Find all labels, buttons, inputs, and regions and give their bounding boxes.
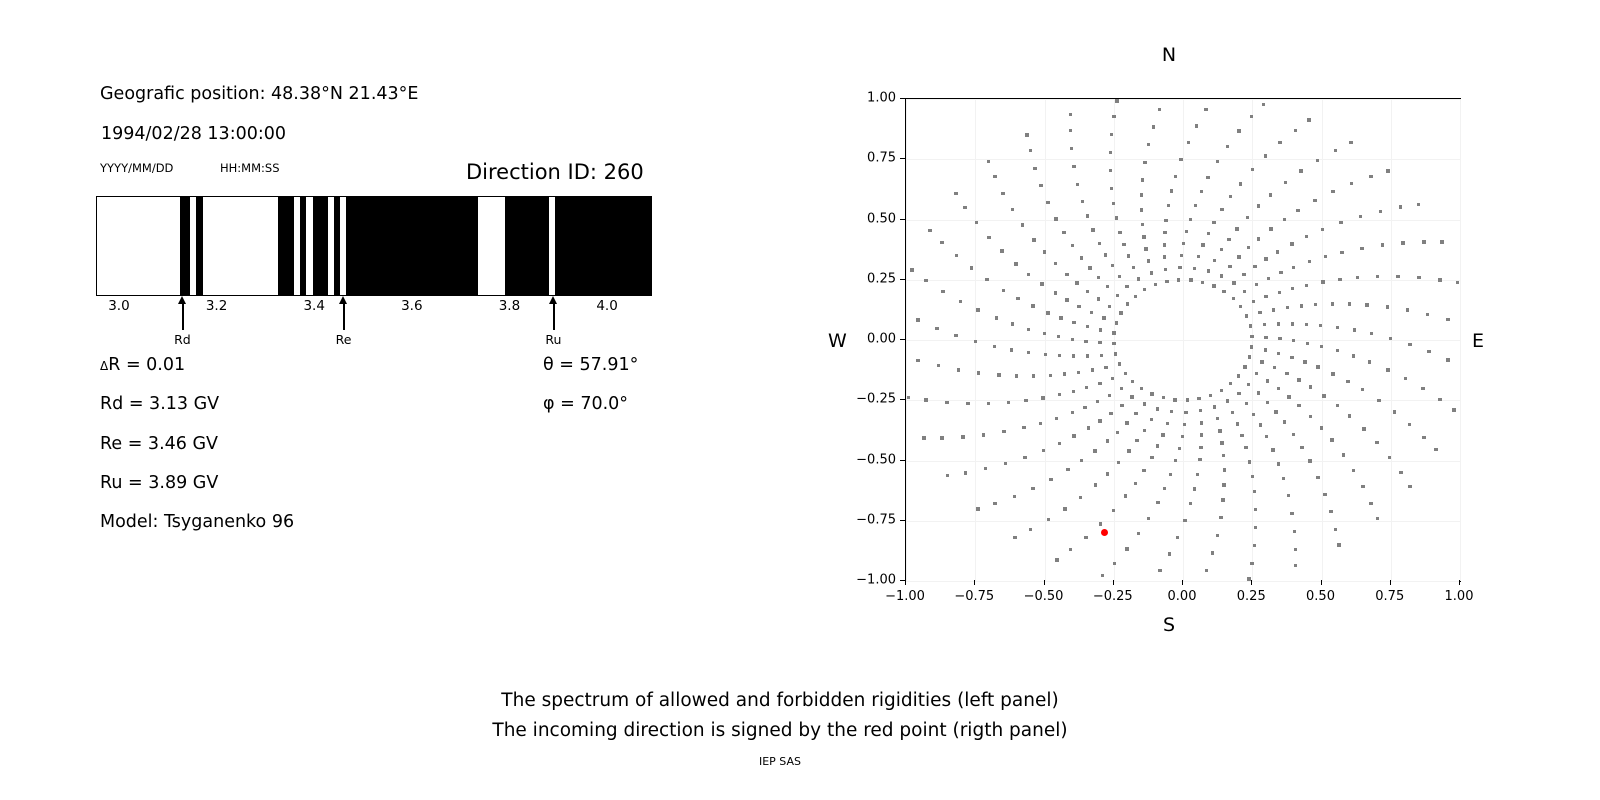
direction-point [1033,167,1036,170]
direction-point [1065,273,1068,276]
direction-point [1072,390,1075,393]
direction-point [1247,577,1250,580]
direction-point [1277,352,1280,355]
x-axis-tick-label: 0.25 [1237,589,1266,604]
direction-point [1063,372,1066,375]
direction-point [1421,387,1424,390]
direction-point [1260,360,1263,363]
direction-point [1334,528,1337,531]
direction-point [1292,433,1295,436]
direction-point [1331,190,1334,193]
direction-point [1106,472,1109,475]
direction-point [1316,159,1319,162]
y-axis-tick-label: −1.00 [856,573,896,588]
direction-point [1183,423,1186,426]
direction-point [1348,302,1351,305]
direction-point [1059,316,1062,319]
direction-point [1039,184,1042,187]
direction-point [1216,417,1219,420]
direction-point [1294,548,1297,551]
direction-point [1296,209,1299,212]
direction-point [1200,421,1203,424]
y-axis-tick-mark [900,399,905,400]
direction-point [1090,311,1093,314]
direction-point [1434,448,1437,451]
direction-point [1257,237,1260,240]
y-axis-tick-label: 0.00 [867,332,896,347]
direction-point [1080,459,1083,462]
direction-point [1010,348,1013,351]
direction-point [1356,276,1359,279]
direction-point [1022,426,1025,429]
direction-point [976,507,979,510]
direction-point [1118,362,1121,365]
direction-point [1229,195,1232,198]
y-axis-tick-label: −0.25 [856,392,896,407]
geographic-position-label: Geografic position: 48.38°N 21.43°E [100,84,418,104]
direction-point [1156,444,1159,447]
direction-point [1324,255,1327,258]
direction-point [1290,512,1293,515]
direction-point [1055,417,1058,420]
direction-point [1388,456,1391,459]
direction-point [1229,382,1232,385]
direction-point [1264,154,1267,157]
direction-point [1290,242,1293,245]
direction-point [1143,161,1146,164]
grid-line-horizontal [906,220,1460,221]
direction-point [1221,498,1224,501]
direction-point [1112,202,1115,205]
direction-point [1125,421,1128,424]
x-axis-tick-label: −0.50 [1024,589,1064,604]
direction-point [1072,434,1075,437]
direction-point [1029,149,1032,152]
datetime-label: 1994/02/28 13:00:00 [101,124,286,144]
direction-point [1110,133,1113,136]
direction-point [1189,278,1192,281]
direction-point [1308,459,1311,462]
direction-point [1150,271,1153,274]
direction-point [1337,543,1340,546]
direction-point [1134,482,1137,485]
direction-point [1266,401,1269,404]
direction-point [1115,321,1118,324]
direction-point [1393,410,1396,413]
direction-point [1300,446,1303,449]
direction-point [1272,308,1275,311]
direction-point [940,436,943,439]
direction-point [1054,291,1057,294]
direction-point [1140,208,1143,211]
direction-point [1150,456,1153,459]
direction-point [924,279,927,282]
direction-point [1305,284,1308,287]
direction-point [1427,350,1430,353]
direction-point [1201,243,1204,246]
direction-point [1322,394,1325,397]
y-axis-tick-mark [900,219,905,220]
direction-point [1452,408,1455,411]
direction-point [1161,433,1164,436]
direction-point [916,359,919,362]
direction-point [1091,228,1094,231]
x-axis-tick-label: 0.75 [1375,589,1404,604]
direction-point [1248,460,1251,463]
direction-point [1248,355,1251,358]
forbidden-band [300,197,306,295]
direction-point [1158,569,1161,572]
direction-point [1096,400,1099,403]
direction-point [955,254,958,257]
x-axis-tick-mark [1321,580,1322,585]
direction-point [1349,141,1352,144]
direction-point [1359,215,1362,218]
direction-point [1340,251,1343,254]
direction-point [1264,348,1267,351]
direction-point [1376,275,1379,278]
direction-point [1170,410,1173,413]
direction-point [1264,295,1267,298]
direction-point [961,435,964,438]
direction-point [1232,281,1235,284]
direction-id-label: Direction ID: 260 [466,160,644,184]
direction-point [1307,118,1310,121]
figure-caption: The spectrum of allowed and forbidden ri… [0,686,1560,746]
direction-point [974,340,977,343]
param-theta: θ = 57.91° [543,355,638,375]
direction-point [935,327,938,330]
y-axis-tick-mark [900,98,905,99]
figure-canvas: Geografic position: 48.38°N 21.43°E 1994… [0,0,1600,800]
date-format-hint: YYYY/MM/DD [100,161,173,175]
direction-point [1254,526,1257,529]
direction-point [1329,510,1332,513]
direction-point [1247,383,1250,386]
direction-point [1108,305,1111,308]
direction-point [1025,133,1028,136]
direction-point [1141,223,1144,226]
direction-point [1240,434,1243,437]
direction-point [1194,204,1197,207]
direction-point [1193,487,1196,490]
direction-point [1262,103,1265,106]
direction-point [985,278,988,281]
rigidity-tick-label: 3.6 [401,298,422,314]
direction-point [1042,449,1045,452]
direction-point [1099,328,1102,331]
direction-point [1137,277,1140,280]
direction-point [1118,275,1121,278]
direction-point [1250,562,1253,565]
direction-point [1182,242,1185,245]
direction-point [1170,189,1173,192]
direction-point [1377,399,1380,402]
direction-point [1243,365,1246,368]
direction-point [1134,412,1137,415]
direction-point [1163,231,1166,234]
direction-point [1021,223,1024,226]
direction-point [1231,411,1234,414]
direction-point [1143,402,1146,405]
direction-point [1058,442,1061,445]
direction-point [1271,448,1274,451]
direction-point [1066,468,1069,471]
direction-point [1109,169,1112,172]
caption-line-2: The incoming direction is signed by the … [0,716,1560,746]
compass-north-label: N [1162,44,1176,66]
direction-point [1013,495,1016,498]
arrow-shaft [553,302,555,330]
direction-point [1031,304,1034,307]
direction-point [1108,394,1111,397]
direction-point [1201,281,1204,284]
direction-point [1131,380,1134,383]
direction-point [1142,235,1145,238]
direction-point [1309,385,1312,388]
direction-point [1396,275,1399,278]
direction-point [1054,217,1057,220]
direction-point [1135,439,1138,442]
direction-point [1251,168,1254,171]
direction-point [1207,269,1210,272]
direction-point [1237,392,1240,395]
direction-point [970,266,973,269]
direction-point [1081,200,1084,203]
x-axis-tick-mark [1251,580,1252,585]
direction-point [1239,305,1242,308]
y-axis-tick-mark [900,339,905,340]
direction-point [1348,414,1351,417]
direction-point [1077,371,1080,374]
direction-point [1071,411,1074,414]
direction-point [1408,343,1411,346]
delta-symbol: Δ [100,359,108,373]
y-axis-tick-mark [900,158,905,159]
direction-point [1177,278,1180,281]
direction-point [1167,204,1170,207]
direction-point [1112,331,1115,334]
direction-point [1216,160,1219,163]
direction-point [1456,281,1459,284]
direction-point [1106,439,1109,442]
direction-point [1193,267,1196,270]
direction-point [984,467,987,470]
direction-point [1196,473,1199,476]
direction-point [1237,129,1240,132]
direction-point [987,236,990,239]
direction-point [1253,490,1256,493]
direction-point [1237,374,1240,377]
direction-point [1098,419,1101,422]
x-axis-tick-label: −0.25 [1093,589,1133,604]
direction-point [1320,426,1323,429]
direction-point [1305,235,1308,238]
direction-point [1197,397,1200,400]
direction-point [1352,354,1355,357]
direction-point [1143,288,1146,291]
rigidity-tick-label: 3.8 [499,298,520,314]
direction-point [1353,328,1356,331]
direction-point [1205,569,1208,572]
direction-point [1071,338,1074,341]
direction-point [1150,418,1153,421]
direction-point [1369,502,1372,505]
grid-line-vertical [1460,99,1461,581]
direction-point [1118,231,1121,234]
param-phi: φ = 70.0° [543,394,628,414]
direction-point [1292,266,1295,269]
y-axis-tick-mark [900,279,905,280]
direction-point [1122,243,1125,246]
x-axis-tick-mark [974,580,975,585]
direction-point [1375,441,1378,444]
direction-point [1446,358,1449,361]
direction-point [1011,208,1014,211]
direction-point [1336,404,1339,407]
direction-point [1235,227,1238,230]
direction-point [1011,322,1014,325]
direction-point [1361,388,1364,391]
direction-point [993,345,996,348]
direction-point [963,206,966,209]
direction-point [1097,276,1100,279]
rigidity-spectrum-panel: Geografic position: 48.38°N 21.43°E 1994… [0,0,760,640]
direction-point [1046,311,1049,314]
direction-point [1227,238,1230,241]
direction-point [1147,517,1150,520]
direction-point [1274,410,1277,413]
direction-point [1291,287,1294,290]
direction-point [1287,494,1290,497]
direction-point [1228,265,1231,268]
direction-point [1213,259,1216,262]
direction-point [1104,366,1107,369]
param-rd: Rd = 3.13 GV [100,394,219,414]
direction-point [1094,483,1097,486]
direction-point [1331,372,1334,375]
direction-point [1163,487,1166,490]
direction-point [1199,409,1202,412]
direction-point [1044,353,1047,356]
direction-point [1352,469,1355,472]
direction-point [1243,290,1246,293]
forbidden-band [505,197,550,295]
y-axis-tick-label: 0.75 [867,151,896,166]
direction-point [1147,259,1150,262]
direction-point [1319,324,1322,327]
direction-point [1169,473,1172,476]
direction-point [1211,551,1214,554]
direction-point [1098,341,1101,344]
direction-point [1334,149,1337,152]
direction-point [1154,283,1157,286]
direction-point [1150,392,1153,395]
y-axis-tick-mark [900,520,905,521]
direction-point [1000,249,1003,252]
direction-point [1278,141,1281,144]
rigidity-tick-label: 3.4 [303,298,324,314]
direction-point [1242,273,1245,276]
direction-point [1164,219,1167,222]
direction-point [1086,290,1089,293]
direction-point [1239,182,1242,185]
y-axis-tick-label: −0.50 [856,452,896,467]
direction-point [1076,183,1079,186]
direction-point [1027,328,1030,331]
direction-point [1115,216,1118,219]
direction-point [945,401,948,404]
direction-point [1072,354,1075,357]
direction-point [1336,349,1339,352]
direction-point [975,221,978,224]
direction-point [1350,182,1353,185]
direction-point [1189,218,1192,221]
direction-point [1250,345,1253,348]
direction-point [1179,158,1182,161]
direction-point [1222,454,1225,457]
direction-point [1084,340,1087,343]
direction-point [1303,360,1306,363]
direction-point [940,241,943,244]
direction-point [1220,248,1223,251]
direction-point [1361,485,1364,488]
direction-point [1422,436,1425,439]
direction-point [1086,354,1089,357]
direction-point [1046,201,1049,204]
direction-point [1111,264,1114,267]
arrow-shaft [182,302,184,330]
direction-point [1183,519,1186,522]
direction-point [1226,145,1229,148]
param-model: Model: Tsyganenko 96 [100,512,294,532]
direction-point [1199,446,1202,449]
direction-point [1250,115,1253,118]
direction-point [1049,374,1052,377]
arrow-shaft [343,302,345,330]
direction-point [1014,262,1017,265]
direction-point [1164,268,1167,271]
direction-point [1071,244,1074,247]
direction-point [957,368,960,371]
direction-point [1013,536,1016,539]
direction-point [1132,266,1135,269]
grid-line-horizontal [906,280,1460,281]
direction-point [1269,227,1272,230]
direction-point [1336,326,1339,329]
direction-point [1259,423,1262,426]
direction-point [1306,342,1309,345]
forbidden-band [313,197,328,295]
direction-point [1265,435,1268,438]
direction-point [1297,378,1300,381]
direction-point [1072,165,1075,168]
compass-west-label: W [828,330,847,352]
direction-point [1408,423,1411,426]
direction-point [1314,303,1317,306]
direction-point [1386,169,1389,172]
direction-point [1043,332,1046,335]
direction-point [1283,420,1286,423]
direction-point [1109,412,1112,415]
direction-point [1273,366,1276,369]
direction-point [1379,210,1382,213]
direction-point [1279,271,1282,274]
direction-point [1114,352,1117,355]
direction-point [1180,254,1183,257]
direction-point [1163,255,1166,258]
direction-point [1305,323,1308,326]
